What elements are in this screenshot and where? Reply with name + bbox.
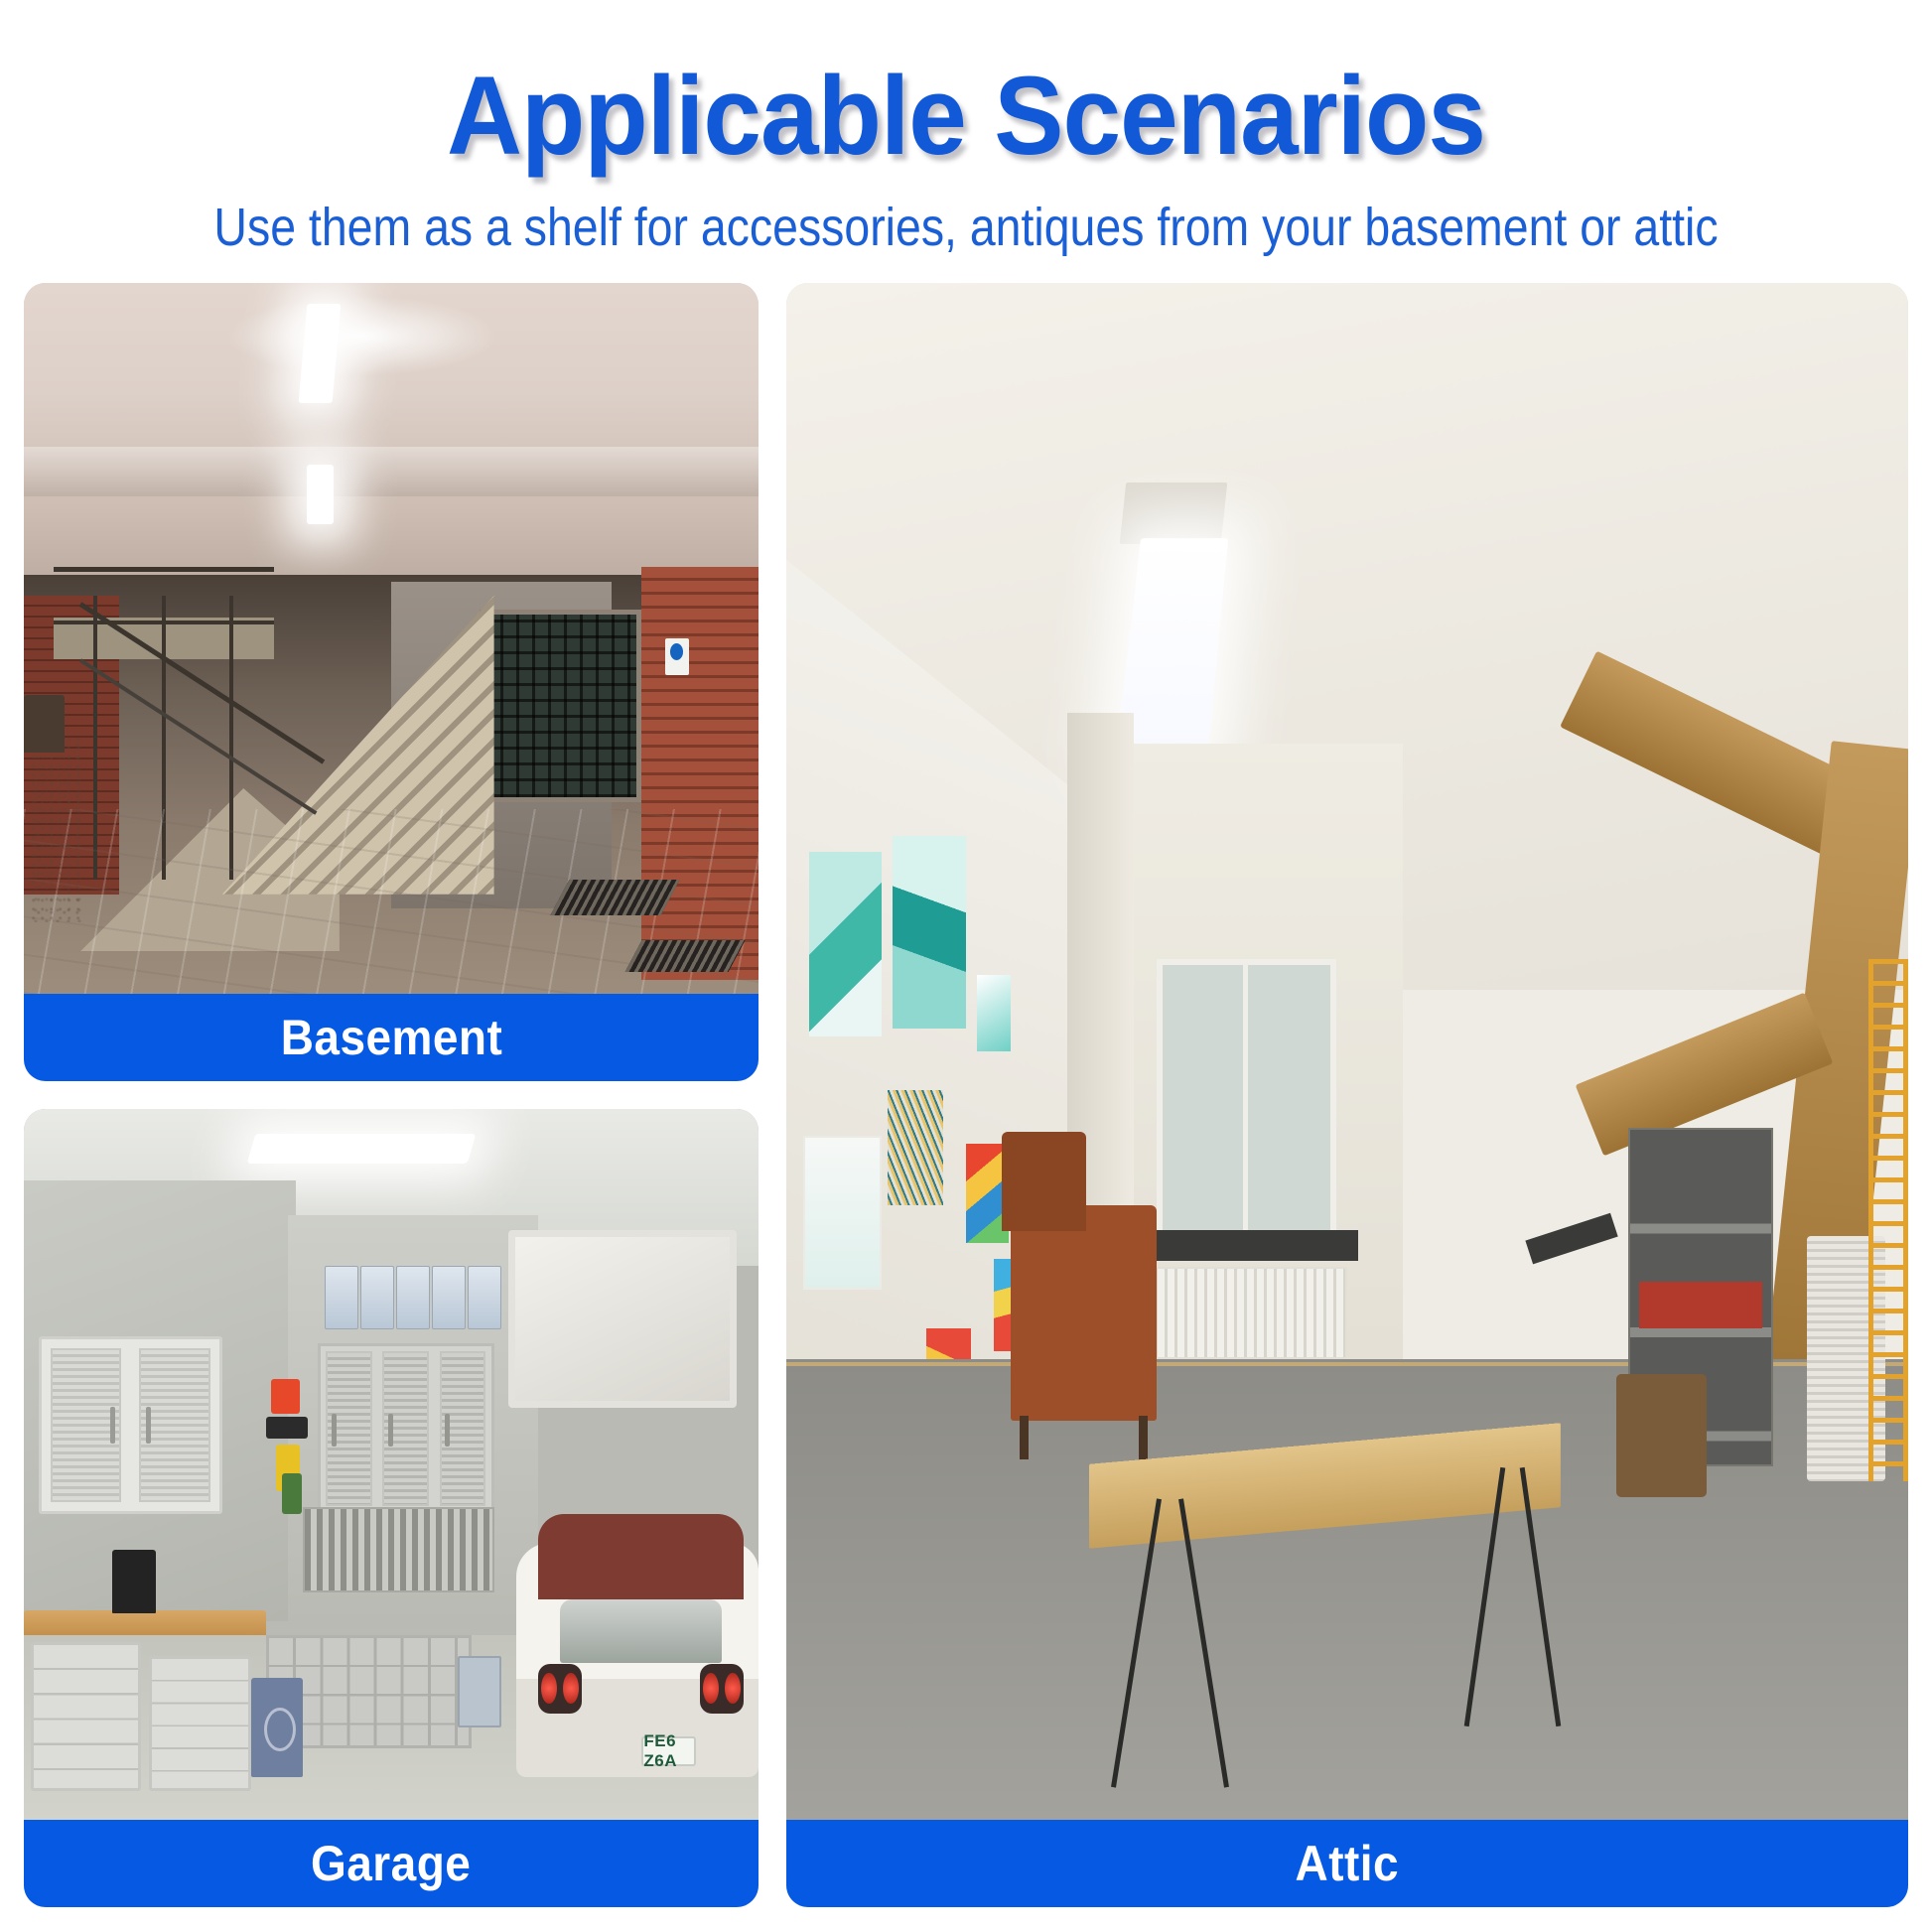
attic-ladder	[1868, 959, 1908, 1481]
wall-sign-icon	[665, 638, 689, 675]
attic-desk-lamp	[1525, 1213, 1618, 1264]
garage-tool-organizer-wall	[303, 1507, 493, 1592]
basement-light-glow	[229, 297, 493, 375]
floor-grate-icon	[551, 880, 680, 915]
scenario-card-garage[interactable]: FE6 Z6A Garage	[24, 1109, 759, 1907]
wall-art-patterned	[888, 1090, 944, 1205]
garage-tool-chest	[149, 1656, 252, 1791]
basement-caption-bar: Basement	[24, 994, 759, 1081]
led-fixture-icon	[247, 1134, 477, 1164]
garage-door-panel	[508, 1230, 736, 1408]
garage-recycle-bin	[251, 1678, 303, 1777]
garage-photo: FE6 Z6A	[24, 1109, 759, 1820]
garage-wall-cabinet-middle	[318, 1343, 494, 1514]
basement-bin	[24, 695, 65, 752]
attic-window	[1157, 959, 1336, 1236]
attic-red-toolbox	[1639, 1282, 1762, 1327]
wall-art-pale	[803, 1136, 882, 1290]
license-plate: FE6 Z6A	[641, 1736, 696, 1766]
floor-grate-icon	[625, 940, 746, 972]
garage-tool-chest	[31, 1642, 141, 1791]
led-fixture-icon	[307, 465, 334, 525]
page-subtitle: Use them as a shelf for accessories, ant…	[135, 199, 1797, 257]
attic-photo	[786, 283, 1908, 1820]
garage-caption-bar: Garage	[24, 1820, 759, 1907]
car-taillight-icon	[538, 1664, 582, 1714]
garage-car-soft-top	[538, 1514, 744, 1599]
basement-ceiling-beam	[24, 447, 759, 496]
garage-car-rear-window	[560, 1599, 722, 1663]
header: Applicable Scenarios Use them as a shelf…	[0, 0, 1932, 257]
attic-fixture-housing	[1120, 483, 1227, 544]
basement-barred-window	[480, 610, 641, 801]
wall-art-geometric	[977, 975, 1011, 1051]
attic-caption-label: Attic	[1296, 1835, 1400, 1892]
scenario-grid: Basement	[24, 283, 1908, 1907]
attic-radiator	[1146, 1267, 1347, 1359]
garage-plastic-tote	[458, 1656, 501, 1727]
attic-window-sill	[1134, 1230, 1358, 1261]
right-column: Attic	[786, 283, 1908, 1907]
left-column: Basement	[24, 283, 759, 1907]
car-taillight-icon	[700, 1664, 744, 1714]
wall-art-geometric	[893, 836, 965, 1029]
attic-leather-bag	[1616, 1374, 1706, 1497]
attic-armchair	[1011, 1205, 1157, 1421]
garage-wall-cabinet-left	[39, 1336, 222, 1514]
scenario-card-basement[interactable]: Basement	[24, 283, 759, 1081]
scenario-card-attic[interactable]: Attic	[786, 283, 1908, 1907]
garage-storage-bins	[325, 1266, 501, 1329]
page-title: Applicable Scenarios	[58, 58, 1873, 175]
basement-caption-label: Basement	[280, 1009, 502, 1066]
wall-art-geometric	[809, 852, 882, 1036]
basement-pillar	[31, 738, 82, 922]
garage-caption-label: Garage	[311, 1835, 471, 1892]
attic-caption-bar: Attic	[786, 1820, 1908, 1907]
garage-coffee-machine	[112, 1550, 156, 1613]
basement-photo	[24, 283, 759, 994]
